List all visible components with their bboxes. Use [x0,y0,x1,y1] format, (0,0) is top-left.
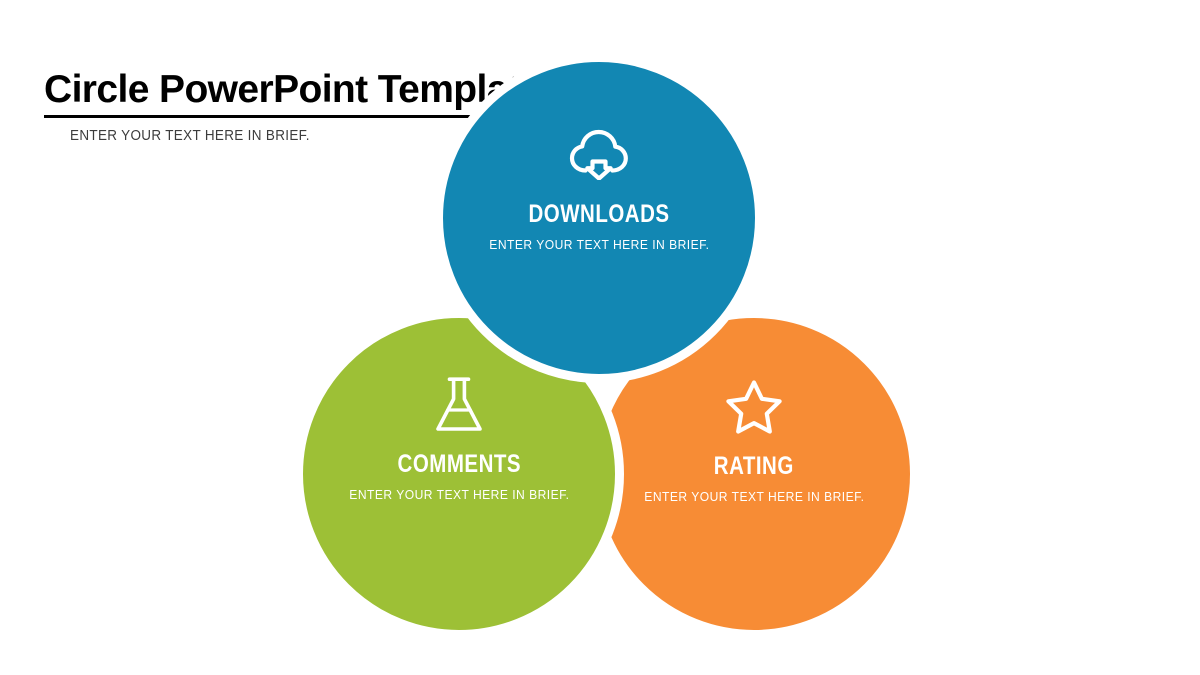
circle-downloads-content: DOWNLOADS ENTER YOUR TEXT HERE IN BRIEF. [443,62,755,251]
star-icon [722,376,786,436]
flask-icon [427,376,491,436]
circle-downloads-heading: DOWNLOADS [528,202,669,227]
circle-downloads-description: ENTER YOUR TEXT HERE IN BRIEF. [489,238,709,251]
cloud-download-icon [567,124,631,184]
slide-canvas: Circle PowerPoint Template ENTER YOUR TE… [0,0,1200,675]
circle-comments-description: ENTER YOUR TEXT HERE IN BRIEF. [349,488,569,501]
circle-comments-heading: COMMENTS [397,452,521,477]
circle-rating-heading: RATING [714,454,794,479]
circle-rating-description: ENTER YOUR TEXT HERE IN BRIEF. [644,490,864,503]
title-underline [44,115,502,118]
circle-downloads[interactable]: DOWNLOADS ENTER YOUR TEXT HERE IN BRIEF. [434,53,764,383]
